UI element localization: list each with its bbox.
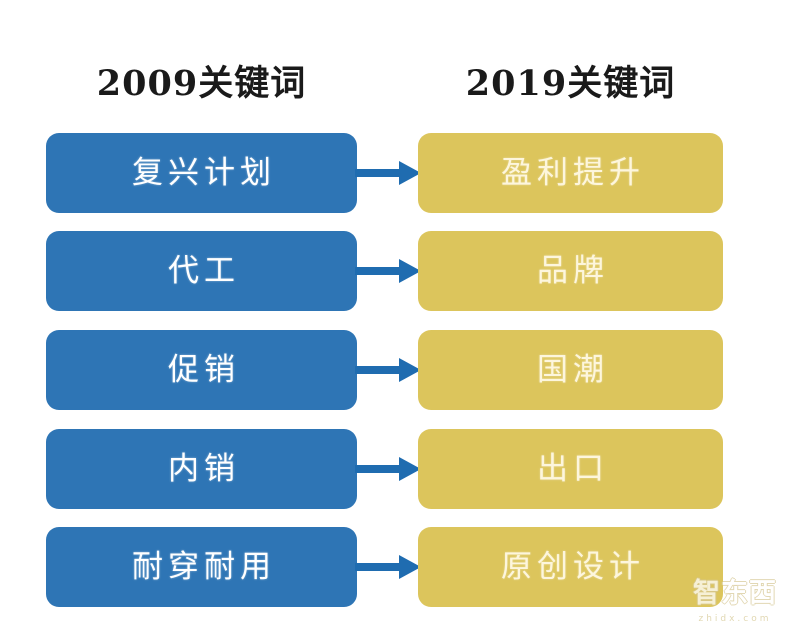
arrow-right-icon bbox=[355, 555, 421, 579]
arrow-right-icon bbox=[355, 259, 421, 283]
keyword-row: 内销 出口 bbox=[0, 429, 800, 509]
keyword-box-2009[interactable]: 代工 bbox=[46, 231, 357, 311]
arrow-right-icon bbox=[355, 161, 421, 185]
arrow-right-icon bbox=[355, 457, 421, 481]
keyword-label-2019: 国潮 bbox=[532, 355, 609, 386]
keyword-box-2019[interactable]: 原创设计 bbox=[418, 527, 723, 607]
keyword-label-2019: 盈利提升 bbox=[496, 158, 645, 189]
column-header-2009: 2009关键词 bbox=[46, 58, 357, 110]
keyword-row: 代工 品牌 bbox=[0, 231, 800, 311]
keyword-label-2019: 出口 bbox=[532, 454, 609, 485]
diagram-canvas: 2009关键词 2019关键词 复兴计划 盈利提升 代工 品牌 bbox=[0, 0, 800, 630]
keyword-row: 复兴计划 盈利提升 bbox=[0, 133, 800, 213]
keyword-box-2009[interactable]: 复兴计划 bbox=[46, 133, 357, 213]
keyword-label-2009: 代工 bbox=[163, 256, 240, 287]
keyword-box-2019[interactable]: 盈利提升 bbox=[418, 133, 723, 213]
keyword-label-2019: 原创设计 bbox=[496, 552, 645, 583]
keyword-box-2009[interactable]: 促销 bbox=[46, 330, 357, 410]
watermark-url: zhidx.com bbox=[676, 614, 794, 624]
keyword-box-2019[interactable]: 国潮 bbox=[418, 330, 723, 410]
keyword-label-2009: 复兴计划 bbox=[127, 158, 276, 189]
keyword-row: 耐穿耐用 原创设计 bbox=[0, 527, 800, 607]
arrow-right-icon bbox=[355, 358, 421, 382]
keyword-label-2019: 品牌 bbox=[532, 256, 609, 287]
keyword-box-2019[interactable]: 出口 bbox=[418, 429, 723, 509]
keyword-label-2009: 耐穿耐用 bbox=[127, 552, 276, 583]
keyword-box-2009[interactable]: 耐穿耐用 bbox=[46, 527, 357, 607]
keyword-box-2009[interactable]: 内销 bbox=[46, 429, 357, 509]
keyword-label-2009: 内销 bbox=[163, 454, 240, 485]
keyword-row: 促销 国潮 bbox=[0, 330, 800, 410]
column-header-2019: 2019关键词 bbox=[418, 58, 723, 110]
keyword-label-2009: 促销 bbox=[163, 355, 240, 386]
keyword-box-2019[interactable]: 品牌 bbox=[418, 231, 723, 311]
